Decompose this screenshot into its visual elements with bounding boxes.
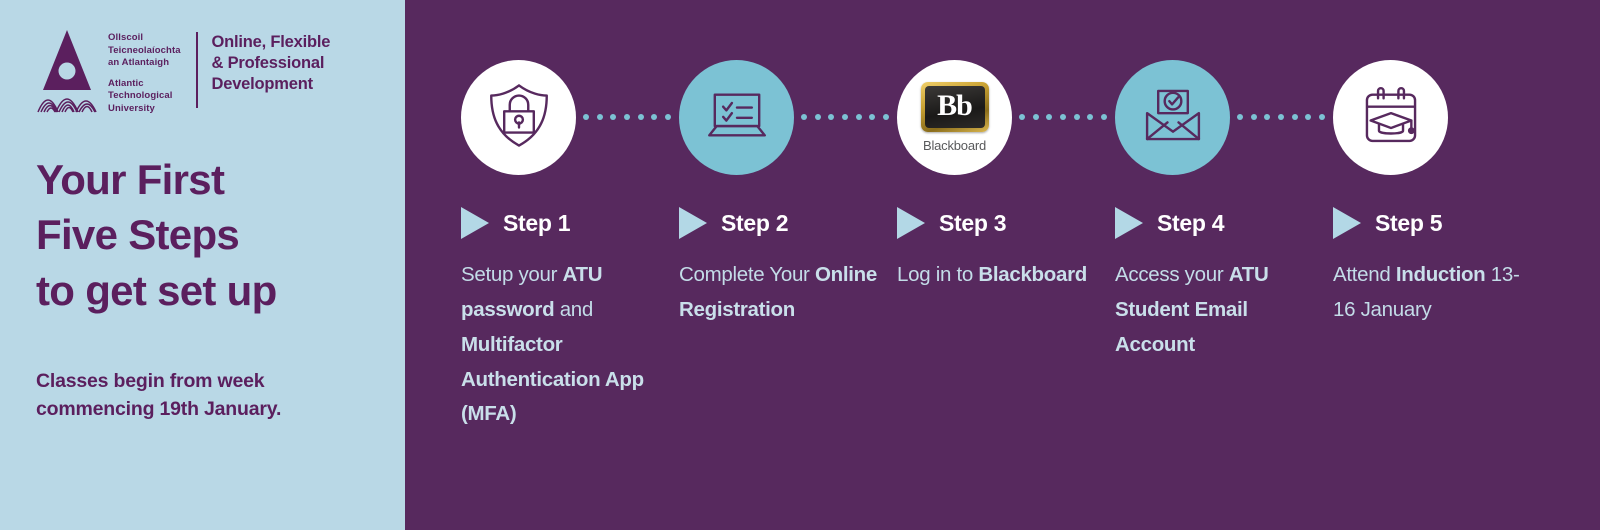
step-label-row: Step 2 (679, 207, 788, 239)
connector-dot (597, 114, 603, 120)
step-icon-circle (1115, 60, 1230, 175)
connector-dot (1251, 114, 1257, 120)
logo-divider-rule (196, 32, 198, 108)
promo-banner: Ollscoil Teicneolaíochta an Atlantaigh A… (0, 0, 1600, 530)
step-description: Attend Induction 13-16 January (1333, 258, 1533, 328)
connector-dot (869, 114, 875, 120)
connector-dot (1264, 114, 1270, 120)
step-4: Step 4Access your ATU Student Email Acco… (1109, 0, 1327, 530)
envelope-check-icon (1136, 78, 1210, 157)
connector-dot (1046, 114, 1052, 120)
connector-dot (856, 114, 862, 120)
step-2: Step 2Complete Your Online Registration (673, 0, 891, 530)
connector-dot (842, 114, 848, 120)
step-description: Log in to Blackboard (897, 258, 1097, 293)
atu-a-logo-icon (36, 26, 98, 114)
page-title: Your First Five Steps to get set up (36, 152, 277, 318)
step-description: Complete Your Online Registration (679, 258, 879, 328)
connector-dot (828, 114, 834, 120)
blackboard-logo-icon: Bb Blackboard (921, 82, 989, 153)
play-arrow-icon (679, 207, 707, 239)
step-label-row: Step 3 (897, 207, 1006, 239)
play-arrow-icon (897, 207, 925, 239)
logo-irish-name: Ollscoil Teicneolaíochta an Atlantaigh (108, 32, 184, 70)
connector-dot (1019, 114, 1025, 120)
step-1: Step 1Setup your ATU password and Multif… (455, 0, 673, 530)
shield-lock-icon (482, 78, 556, 157)
calendar-graduation-cap-icon (1354, 78, 1428, 157)
step-label-row: Step 1 (461, 207, 570, 239)
step-label: Step 3 (939, 210, 1006, 237)
step-label: Step 1 (503, 210, 570, 237)
connector-dot (638, 114, 644, 120)
play-arrow-icon (1115, 207, 1143, 239)
steps-row: Step 1Setup your ATU password and Multif… (455, 0, 1595, 530)
connector-dot (1237, 114, 1243, 120)
connector-dot (801, 114, 807, 120)
connector-dot (1305, 114, 1311, 120)
blackboard-bb-text: Bb (937, 91, 972, 121)
blackboard-tile: Bb (921, 82, 989, 132)
blackboard-board: Bb (925, 86, 985, 128)
connector-dot (1319, 114, 1325, 120)
step-label-row: Step 5 (1333, 207, 1442, 239)
connector-dot (815, 114, 821, 120)
connector-dot (1033, 114, 1039, 120)
connector-dot (651, 114, 657, 120)
classes-start-note: Classes begin from week commencing 19th … (36, 368, 376, 423)
step-icon-circle (679, 60, 794, 175)
step-connector-dots (583, 112, 671, 122)
step-label: Step 5 (1375, 210, 1442, 237)
step-icon-circle (461, 60, 576, 175)
step-description: Access your ATU Student Email Account (1115, 258, 1315, 363)
play-arrow-icon (1333, 207, 1361, 239)
step-description: Setup your ATU password and Multifactor … (461, 258, 661, 432)
laptop-checklist-icon (700, 78, 774, 157)
play-arrow-icon (461, 207, 489, 239)
step-connector-dots (1019, 112, 1107, 122)
step-label: Step 2 (721, 210, 788, 237)
step-icon-circle (1333, 60, 1448, 175)
atu-logo-wordmark: Ollscoil Teicneolaíochta an Atlantaigh A… (108, 26, 184, 115)
connector-dot (1074, 114, 1080, 120)
connector-dot (624, 114, 630, 120)
step-5: Step 5Attend Induction 13-16 January (1327, 0, 1545, 530)
step-icon-circle: Bb Blackboard (897, 60, 1012, 175)
step-3: Bb Blackboard Step 3Log in to Blackboard (891, 0, 1109, 530)
connector-dot (610, 114, 616, 120)
step-connector-dots (801, 112, 889, 122)
left-info-panel: Ollscoil Teicneolaíochta an Atlantaigh A… (0, 0, 405, 530)
brand-tagline: Online, Flexible & Professional Developm… (212, 32, 331, 95)
logo-english-name: Atlantic Technological University (108, 78, 184, 116)
connector-dot (1101, 114, 1107, 120)
atu-logo-block: Ollscoil Teicneolaíochta an Atlantaigh A… (36, 26, 330, 115)
connector-dot (883, 114, 889, 120)
blackboard-caption: Blackboard (923, 138, 986, 153)
step-connector-dots (1237, 112, 1325, 122)
step-label: Step 4 (1157, 210, 1224, 237)
step-label-row: Step 4 (1115, 207, 1224, 239)
connector-dot (583, 114, 589, 120)
connector-dot (1087, 114, 1093, 120)
steps-panel: Step 1Setup your ATU password and Multif… (405, 0, 1600, 530)
connector-dot (1292, 114, 1298, 120)
connector-dot (665, 114, 671, 120)
connector-dot (1278, 114, 1284, 120)
connector-dot (1060, 114, 1066, 120)
